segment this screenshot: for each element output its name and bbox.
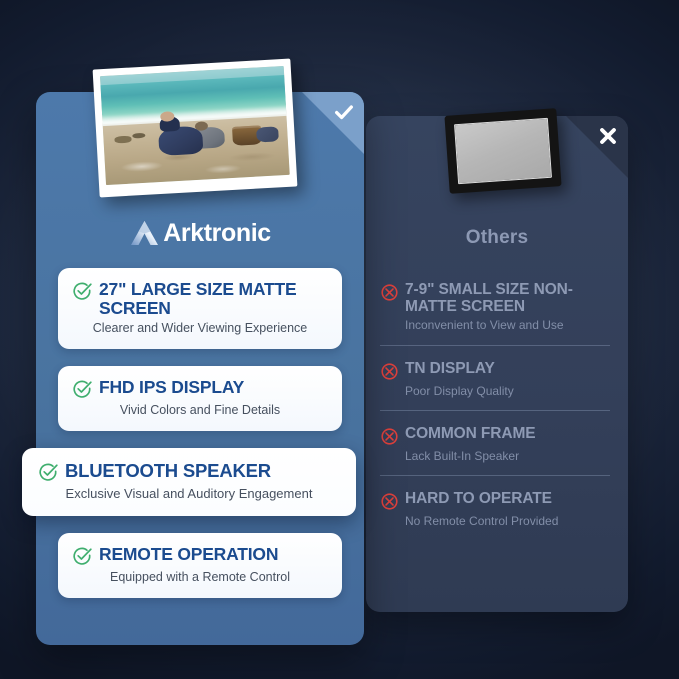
x-circle-icon bbox=[380, 362, 399, 381]
drawback-subtitle: Inconvenient to View and Use bbox=[405, 318, 610, 332]
drawback-subtitle: Lack Built-In Speaker bbox=[405, 449, 610, 463]
brand-lockup: Arktronic bbox=[36, 218, 364, 248]
divider bbox=[380, 410, 610, 411]
checkmark-icon bbox=[333, 101, 355, 123]
drawback-subtitle: No Remote Control Provided bbox=[405, 514, 610, 528]
feature-row-highlighted: BLUETOOTH SPEAKER Exclusive Visual and A… bbox=[22, 448, 356, 516]
beach-painting bbox=[100, 66, 290, 185]
drawback-row: TN DISPLAY Poor Display Quality bbox=[366, 361, 628, 398]
feature-row: 27" LARGE SIZE MATTE SCREEN Clearer and … bbox=[58, 268, 342, 349]
drawback-title: COMMON FRAME bbox=[405, 426, 536, 443]
feature-row: FHD IPS DISPLAY Vivid Colors and Fine De… bbox=[58, 366, 342, 431]
check-circle-icon bbox=[72, 281, 92, 301]
feature-title: FHD IPS DISPLAY bbox=[99, 378, 244, 397]
drawback-title: TN DISPLAY bbox=[405, 361, 495, 378]
drawback-row: 7-9" SMALL SIZE NON-MATTE SCREEN Inconve… bbox=[366, 282, 628, 333]
others-device-image bbox=[444, 108, 561, 194]
drawback-title: 7-9" SMALL SIZE NON-MATTE SCREEN bbox=[405, 282, 610, 315]
arktronic-corner-badge bbox=[302, 92, 364, 154]
divider bbox=[380, 345, 610, 346]
x-circle-icon bbox=[380, 283, 399, 302]
feature-title: REMOTE OPERATION bbox=[99, 545, 278, 564]
feature-subtitle: Equipped with a Remote Control bbox=[72, 570, 328, 585]
x-circle-icon bbox=[380, 492, 399, 511]
feature-subtitle: Vivid Colors and Fine Details bbox=[72, 403, 328, 418]
feature-subtitle: Exclusive Visual and Auditory Engagement bbox=[38, 486, 340, 502]
check-circle-icon bbox=[72, 546, 92, 566]
arktronic-feature-list: 27" LARGE SIZE MATTE SCREEN Clearer and … bbox=[36, 268, 364, 615]
drawback-row: HARD TO OPERATE No Remote Control Provid… bbox=[366, 491, 628, 528]
check-circle-icon bbox=[38, 462, 58, 482]
drawback-title: HARD TO OPERATE bbox=[405, 491, 552, 508]
cross-icon bbox=[597, 125, 619, 147]
feature-subtitle: Clearer and Wider Viewing Experience bbox=[72, 321, 328, 336]
arktronic-photo-frame-image bbox=[93, 59, 298, 198]
others-feature-list: 7-9" SMALL SIZE NON-MATTE SCREEN Inconve… bbox=[366, 282, 628, 541]
check-circle-icon bbox=[72, 379, 92, 399]
feature-title: 27" LARGE SIZE MATTE SCREEN bbox=[99, 280, 328, 317]
drawback-row: COMMON FRAME Lack Built-In Speaker bbox=[366, 426, 628, 463]
drawback-subtitle: Poor Display Quality bbox=[405, 384, 610, 398]
feature-row: REMOTE OPERATION Equipped with a Remote … bbox=[58, 533, 342, 598]
brand-name: Arktronic bbox=[163, 219, 271, 248]
others-heading: Others bbox=[366, 227, 628, 249]
arrow-mountain-logo-icon bbox=[129, 218, 161, 248]
others-corner-badge bbox=[566, 116, 628, 178]
x-circle-icon bbox=[380, 427, 399, 446]
feature-title: BLUETOOTH SPEAKER bbox=[65, 461, 271, 481]
comparison-infographic: Arktronic Others 27" LARGE SIZE MATTE SC… bbox=[0, 0, 679, 679]
blank-screen bbox=[454, 118, 552, 184]
divider bbox=[380, 475, 610, 476]
